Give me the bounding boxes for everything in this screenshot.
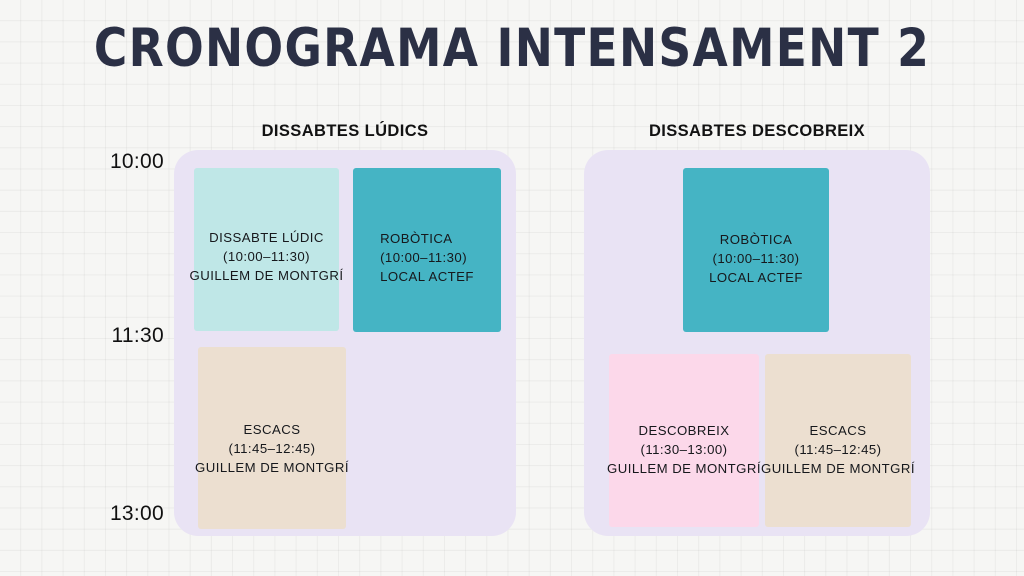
event-location: GUILLEM DE MONTGRÍ [190,266,344,285]
event-location: LOCAL ACTEF [380,267,474,286]
event-title: DISSABTE LÚDIC [190,228,344,247]
event-title: DESCOBREIX [607,421,761,440]
event-time: (10:00–11:30) [709,249,803,268]
event-time: (10:00–11:30) [190,247,344,266]
event-card-text: DESCOBREIX (11:30–13:00) GUILLEM DE MONT… [607,421,761,478]
event-location: LOCAL ACTEF [709,268,803,287]
time-axis: 10:00 11:30 13:00 [0,0,164,576]
time-label-11-30: 11:30 [54,324,164,348]
event-location: GUILLEM DE MONTGRÍ [761,459,915,478]
event-card-descobreix[interactable]: DESCOBREIX (11:30–13:00) GUILLEM DE MONT… [609,354,759,527]
event-title: ESCACS [761,421,915,440]
event-location: GUILLEM DE MONTGRÍ [607,459,761,478]
event-time: (10:00–11:30) [380,248,474,267]
event-card-text: ROBÒTICA (10:00–11:30) LOCAL ACTEF [709,230,803,287]
event-title: ROBÒTICA [380,229,474,248]
event-card-robotica-ludics[interactable]: ROBÒTICA (10:00–11:30) LOCAL ACTEF [353,168,501,332]
event-card-escacs-ludics[interactable]: ESCACS (11:45–12:45) GUILLEM DE MONTGRÍ [198,347,346,529]
event-card-dissabte-ludic[interactable]: DISSABTE LÚDIC (10:00–11:30) GUILLEM DE … [194,168,339,331]
time-label-10-00: 10:00 [54,150,164,174]
event-card-escacs-descobreix[interactable]: ESCACS (11:45–12:45) GUILLEM DE MONTGRÍ [765,354,911,527]
page-title: CRONOGRAMA INTENSAMENT 2 [72,18,953,79]
event-location: GUILLEM DE MONTGRÍ [195,458,349,477]
schedule-slide: CRONOGRAMA INTENSAMENT 2 10:00 11:30 13:… [0,0,1024,576]
time-label-13-00: 13:00 [54,502,164,526]
column-header-dissabtes-ludics: DISSABTES LÚDICS [174,122,516,141]
event-card-text: ESCACS (11:45–12:45) GUILLEM DE MONTGRÍ [195,420,349,477]
column-header-dissabtes-descobreix: DISSABTES DESCOBREIX [584,122,930,141]
event-card-text: DISSABTE LÚDIC (10:00–11:30) GUILLEM DE … [190,228,344,285]
event-card-text: ROBÒTICA (10:00–11:30) LOCAL ACTEF [380,229,474,286]
event-card-text: ESCACS (11:45–12:45) GUILLEM DE MONTGRÍ [761,421,915,478]
event-time: (11:45–12:45) [195,439,349,458]
event-time: (11:30–13:00) [607,440,761,459]
event-time: (11:45–12:45) [761,440,915,459]
event-card-robotica-descobreix[interactable]: ROBÒTICA (10:00–11:30) LOCAL ACTEF [683,168,829,332]
event-title: ROBÒTICA [709,230,803,249]
event-title: ESCACS [195,420,349,439]
